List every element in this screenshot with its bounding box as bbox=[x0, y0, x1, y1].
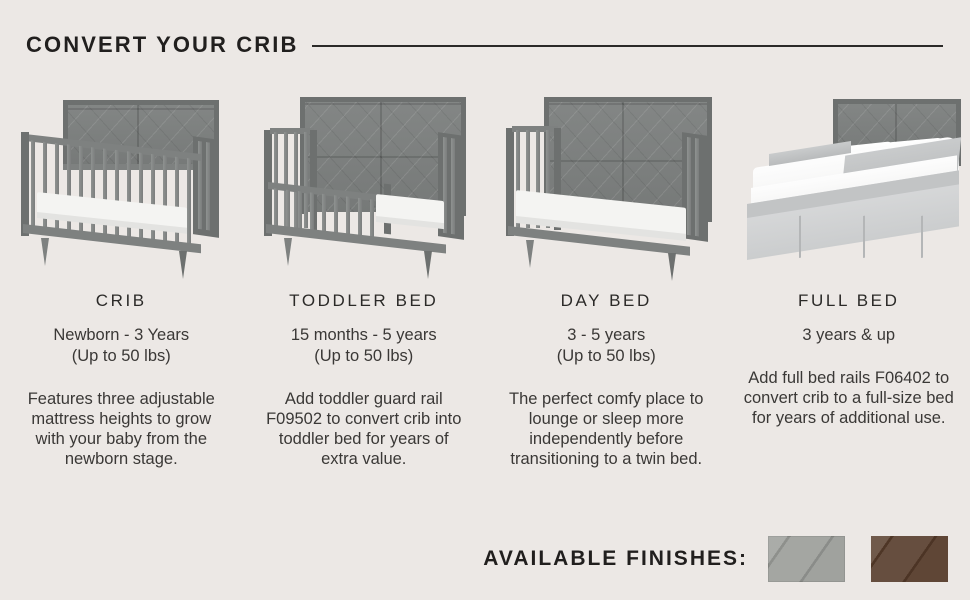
day-bed-illustration bbox=[492, 96, 720, 281]
column-age-range: 3 years & up bbox=[802, 325, 895, 346]
day-bed-leg-left bbox=[526, 240, 534, 268]
column-description: The perfect comfy place to lounge or sle… bbox=[501, 389, 711, 469]
finish-swatches bbox=[768, 536, 948, 582]
column-description: Add full bed rails F06402 to convert cri… bbox=[744, 368, 954, 428]
available-finishes-label: AVAILABLE FINISHES: bbox=[483, 547, 748, 571]
header-divider-rule bbox=[312, 45, 943, 47]
crib-leg-right bbox=[179, 251, 187, 279]
available-finishes-bar: AVAILABLE FINISHES: bbox=[0, 536, 970, 582]
column-day-bed: DAY BED 3 - 5 years (Up to 50 lbs) The p… bbox=[485, 96, 728, 469]
column-toddler-bed: TODDLER BED 15 months - 5 years (Up to 5… bbox=[243, 96, 486, 469]
page-title: CONVERT YOUR CRIB bbox=[26, 32, 298, 58]
column-title: CRIB bbox=[96, 291, 147, 311]
column-title: TODDLER BED bbox=[289, 291, 438, 311]
column-full-bed: FULL BED 3 years & up Add full bed rails… bbox=[728, 96, 970, 469]
full-bed-illustration bbox=[735, 96, 963, 281]
column-age-range: 3 - 5 years (Up to 50 lbs) bbox=[557, 325, 656, 367]
toddler-bed-leg-left bbox=[284, 238, 292, 266]
column-description: Features three adjustable mattress heigh… bbox=[16, 389, 226, 469]
product-columns: CRIB Newborn - 3 Years (Up to 50 lbs) Fe… bbox=[0, 96, 970, 469]
toddler-bed-leg-right bbox=[424, 251, 432, 279]
brown-finish-swatch[interactable] bbox=[871, 536, 948, 582]
column-age-range: Newborn - 3 Years (Up to 50 lbs) bbox=[53, 325, 189, 367]
day-bed-leg-right bbox=[668, 253, 676, 281]
crib-illustration bbox=[7, 96, 235, 281]
header: CONVERT YOUR CRIB bbox=[26, 32, 943, 58]
crib-leg-left bbox=[41, 238, 49, 266]
gray-finish-swatch[interactable] bbox=[768, 536, 845, 582]
convert-your-crib-infographic: CONVERT YOUR CRIB bbox=[0, 0, 970, 600]
toddler-bed-illustration bbox=[250, 96, 478, 281]
column-description: Add toddler guard rail F09502 to convert… bbox=[259, 389, 469, 469]
column-age-range: 15 months - 5 years (Up to 50 lbs) bbox=[291, 325, 437, 367]
column-title: DAY BED bbox=[561, 291, 652, 311]
column-title: FULL BED bbox=[798, 291, 899, 311]
column-crib: CRIB Newborn - 3 Years (Up to 50 lbs) Fe… bbox=[0, 96, 243, 469]
